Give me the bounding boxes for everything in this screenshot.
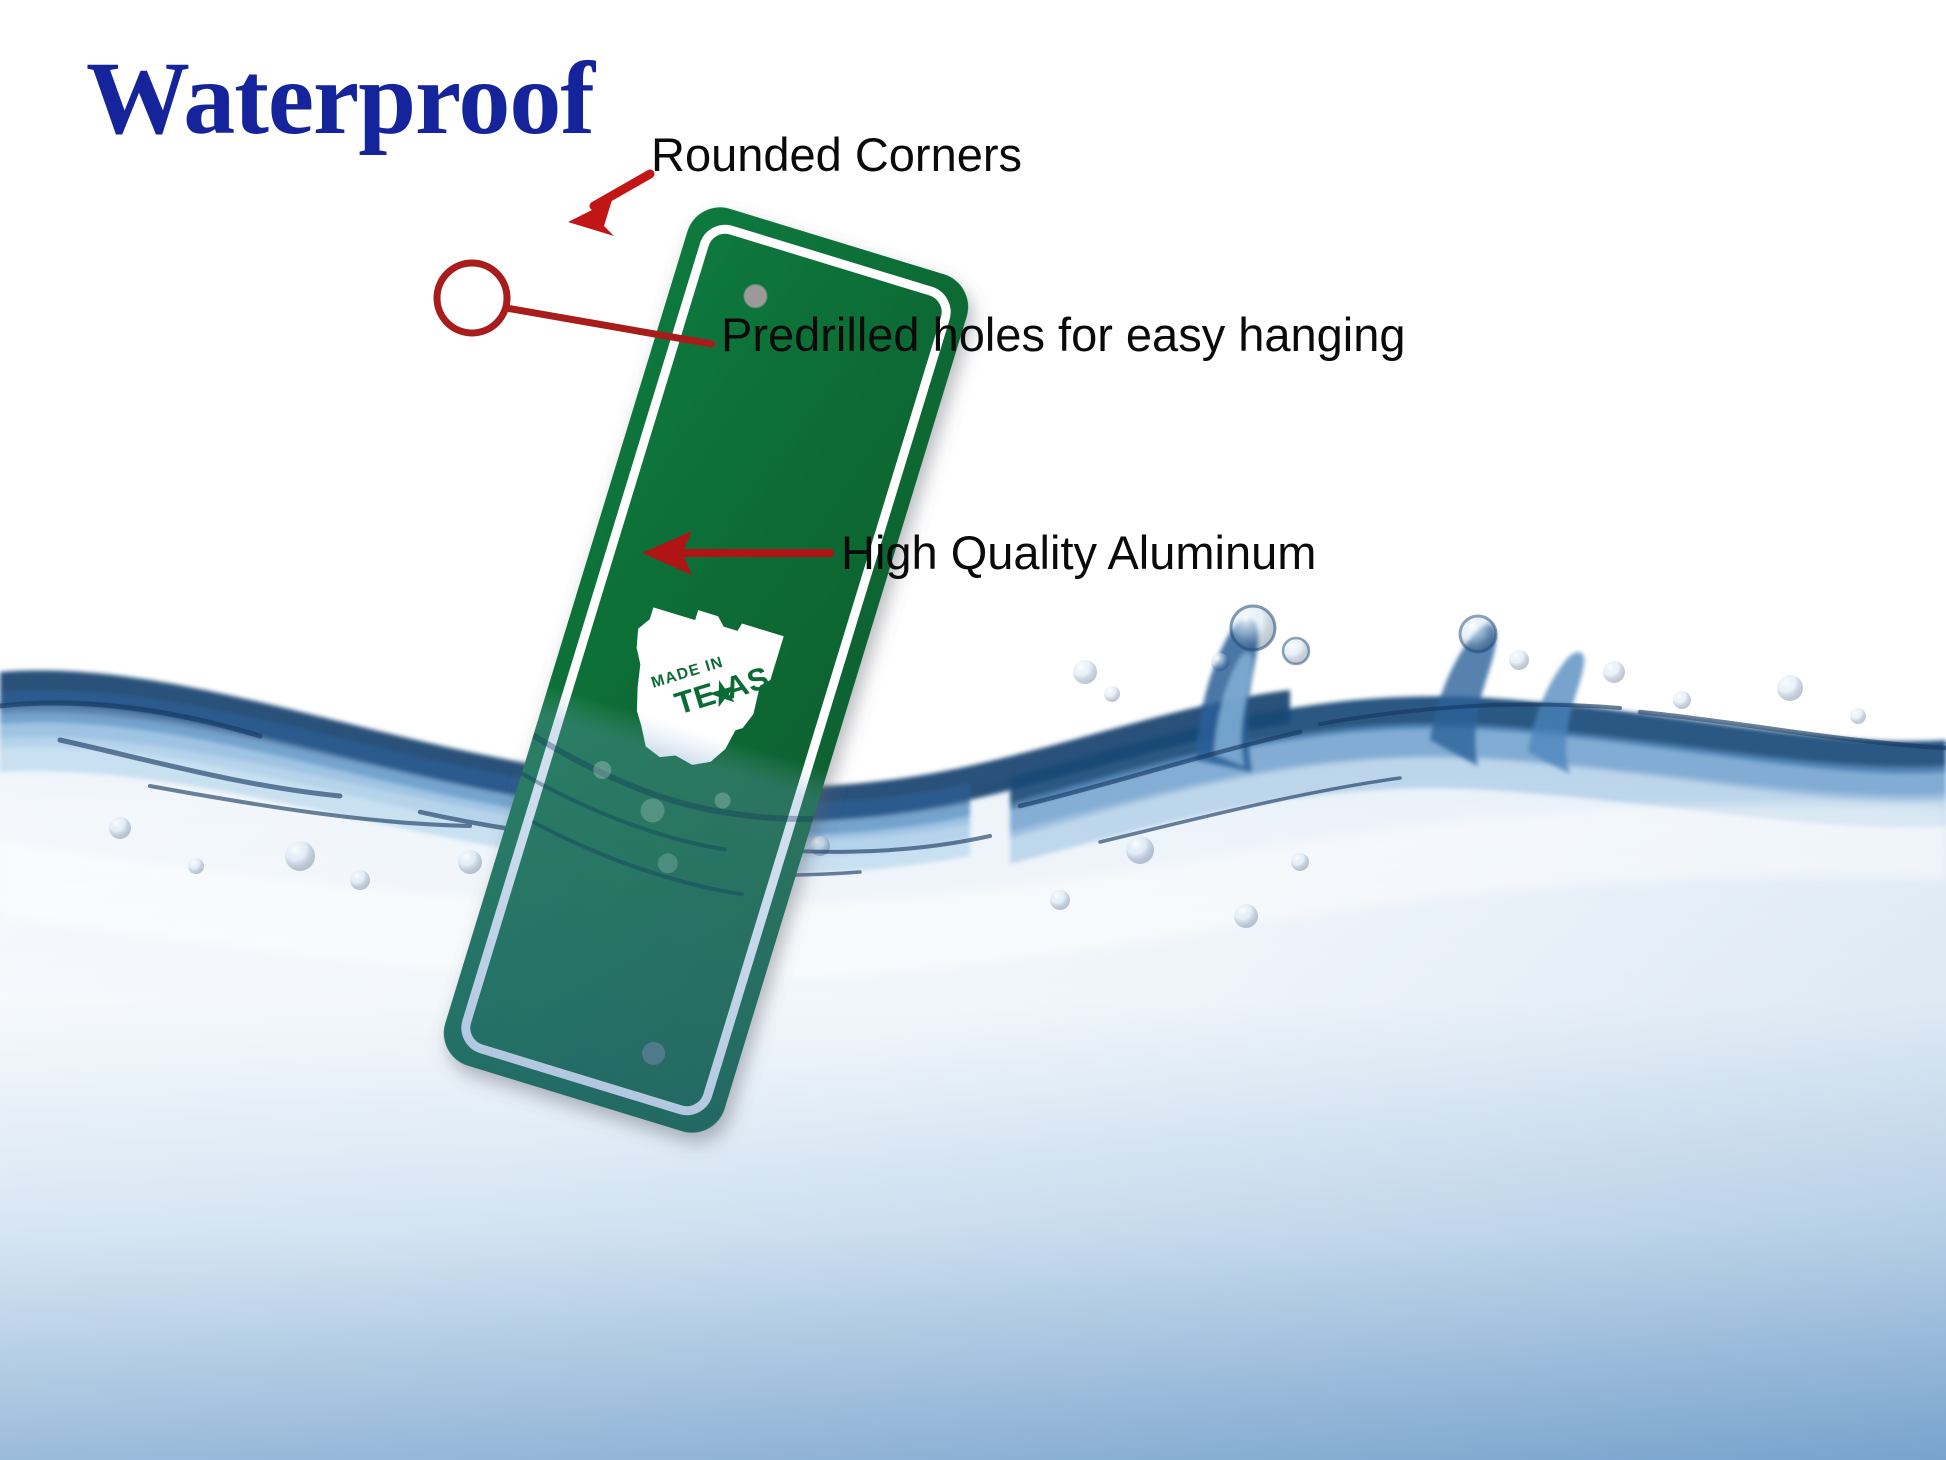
svg-text:★: ★ xyxy=(702,669,744,717)
annotation-predrilled-holes: Predrilled holes for easy hanging xyxy=(721,307,1406,362)
annotation-high-quality-aluminum: High Quality Aluminum xyxy=(841,525,1316,580)
water-background xyxy=(0,0,1946,1460)
sign-graphic: MADE IN TE AS ★ xyxy=(0,0,1946,1460)
infographic-canvas: MADE IN TE AS ★ xyxy=(0,0,1946,1460)
rounded-corners-arrow xyxy=(568,174,650,236)
page-title: Waterproof xyxy=(86,44,594,153)
predrilled-hole-callout xyxy=(437,263,712,344)
annotation-rounded-corners: Rounded Corners xyxy=(651,127,1022,182)
svg-text:AS: AS xyxy=(721,660,774,706)
svg-text:MADE IN: MADE IN xyxy=(649,654,725,692)
aluminum-arrow xyxy=(642,531,830,575)
svg-text:TE: TE xyxy=(671,676,720,721)
